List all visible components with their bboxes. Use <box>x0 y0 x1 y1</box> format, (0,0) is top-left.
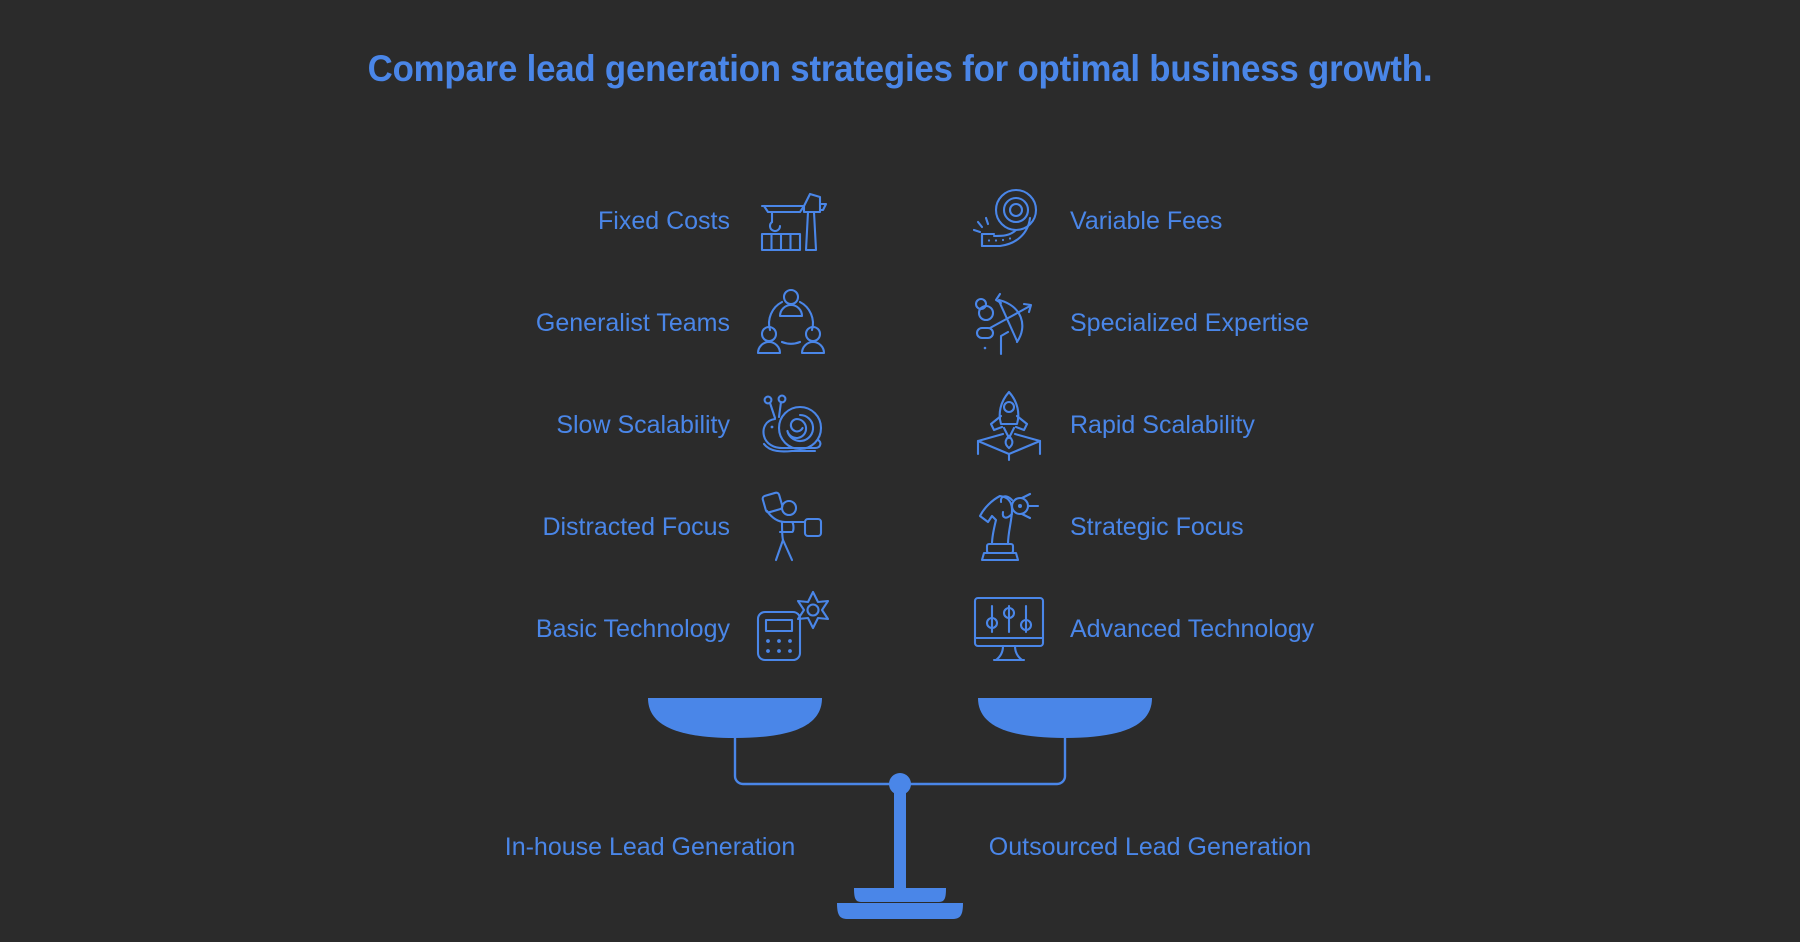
outsourced-attribute-label: Advanced Technology <box>1070 617 1314 642</box>
comparison-row: Slow Scalability <box>0 374 1800 476</box>
row-right-cell: Variable Fees <box>970 182 1406 260</box>
comparison-rows: Fixed Costs <box>0 170 1800 680</box>
comparison-row: Fixed Costs <box>0 170 1800 272</box>
outsourced-caption: Outsourced Lead Generation <box>930 833 1370 862</box>
in-house-attribute-label: Slow Scalability <box>556 413 730 438</box>
row-left-cell: Fixed Costs <box>394 182 830 260</box>
balance-scale-icon <box>640 690 1160 922</box>
team-circle-icon <box>752 284 830 362</box>
snail-icon <box>752 386 830 464</box>
row-left-cell: Generalist Teams <box>394 284 830 362</box>
infographic-canvas: Compare lead generation strategies for o… <box>0 0 1800 942</box>
in-house-attribute-label: Basic Technology <box>536 617 730 642</box>
outsourced-attribute-label: Variable Fees <box>1070 209 1222 234</box>
crane-icon <box>752 182 830 260</box>
bow-and-arrow-icon <box>970 284 1048 362</box>
in-house-attribute-label: Generalist Teams <box>536 311 730 336</box>
outsourced-attribute-label: Specialized Expertise <box>1070 311 1309 336</box>
in-house-attribute-label: Fixed Costs <box>598 209 730 234</box>
row-right-cell: Strategic Focus <box>970 488 1406 566</box>
monitor-sliders-icon <box>970 590 1048 668</box>
row-left-cell: Distracted Focus <box>394 488 830 566</box>
juggling-person-icon <box>752 488 830 566</box>
row-right-cell: Advanced Technology <box>970 590 1406 668</box>
in-house-caption: In-house Lead Generation <box>430 833 870 862</box>
calculator-gear-icon <box>752 590 830 668</box>
comparison-row: Distracted Focus <box>0 476 1800 578</box>
outsourced-attribute-label: Rapid Scalability <box>1070 413 1255 438</box>
row-right-cell: Rapid Scalability <box>970 386 1406 464</box>
row-left-cell: Basic Technology <box>394 590 830 668</box>
in-house-attribute-label: Distracted Focus <box>542 515 730 540</box>
outsourced-attribute-label: Strategic Focus <box>1070 515 1244 540</box>
scale-captions: In-house Lead Generation Outsourced Lead… <box>0 833 1800 862</box>
comparison-row: Generalist Teams <box>0 272 1800 374</box>
comparison-row: Basic Technology <box>0 578 1800 680</box>
row-right-cell: Specialized Expertise <box>970 284 1406 362</box>
tape-measure-icon <box>970 182 1048 260</box>
rocket-launch-icon <box>970 386 1048 464</box>
page-title: Compare lead generation strategies for o… <box>54 48 1746 90</box>
row-left-cell: Slow Scalability <box>394 386 830 464</box>
chess-knight-target-icon <box>970 488 1048 566</box>
